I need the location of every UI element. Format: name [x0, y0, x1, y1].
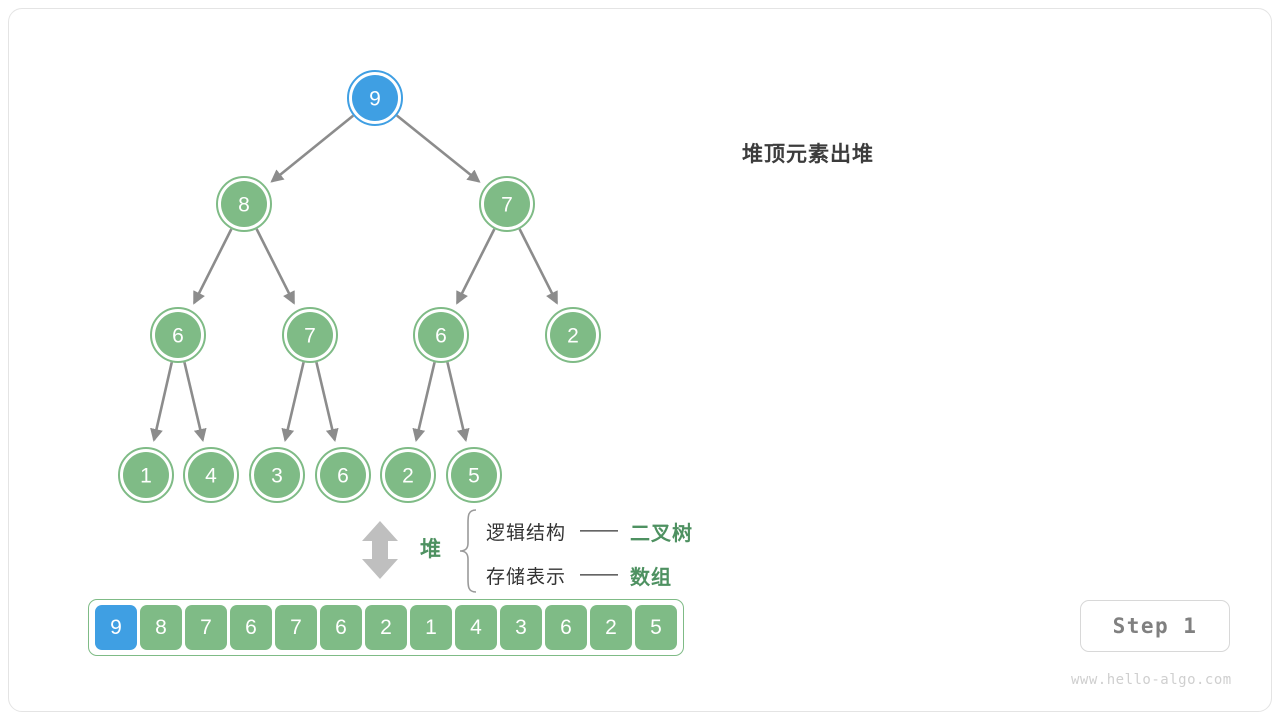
- page-title: 堆顶元素出堆: [742, 138, 874, 168]
- array-cell-value: 6: [335, 616, 347, 640]
- legend-row: 存储表示 —— 数组: [486, 553, 693, 597]
- tree-edge: [194, 229, 231, 303]
- tree-edge: [285, 362, 303, 440]
- array-cell-value: 4: [470, 616, 482, 640]
- node-label: 6: [435, 325, 447, 348]
- node-label: 2: [567, 325, 579, 348]
- array-cell-value: 5: [650, 616, 662, 640]
- legend-value: 二叉树: [630, 517, 693, 546]
- tree-node[interactable]: 7: [283, 308, 337, 362]
- legend-dash: ——: [580, 564, 618, 586]
- tree-edge: [520, 229, 557, 303]
- tree-nodes: 9876762143625: [119, 71, 600, 502]
- legend-row: 逻辑结构 —— 二叉树: [486, 509, 693, 553]
- array-cell-value: 6: [560, 616, 572, 640]
- tree-node[interactable]: 6: [316, 448, 370, 502]
- tree-node[interactable]: 2: [381, 448, 435, 502]
- tree-node[interactable]: 5: [447, 448, 501, 502]
- node-label: 6: [172, 325, 184, 348]
- node-label: 8: [238, 194, 250, 217]
- array-cell-value: 3: [515, 616, 527, 640]
- diagram-canvas: 9876762143625 堆顶元素出堆 堆 逻辑结构 —— 二叉树 存储表示 …: [0, 0, 1280, 720]
- node-label: 5: [468, 465, 480, 488]
- legend-dash: ——: [580, 520, 618, 542]
- array-cell[interactable]: 9: [95, 605, 137, 650]
- array-cell[interactable]: 5: [635, 605, 677, 650]
- tree-edge: [316, 362, 334, 440]
- tree-node[interactable]: 9: [348, 71, 402, 125]
- tree-edges: [154, 116, 557, 440]
- curly-brace-icon: [456, 507, 482, 595]
- tree-node[interactable]: 4: [184, 448, 238, 502]
- node-label: 7: [304, 325, 316, 348]
- tree-node[interactable]: 8: [217, 177, 271, 231]
- tree-edge: [397, 116, 479, 182]
- tree-node[interactable]: 2: [546, 308, 600, 362]
- array-cell-value: 2: [605, 616, 617, 640]
- array-cell-value: 7: [200, 616, 212, 640]
- node-label: 3: [271, 465, 283, 488]
- tree-node[interactable]: 6: [414, 308, 468, 362]
- tree-node[interactable]: 7: [480, 177, 534, 231]
- array-cell-value: 7: [290, 616, 302, 640]
- node-label: 1: [140, 465, 152, 488]
- array-cell[interactable]: 8: [140, 605, 182, 650]
- array-cell[interactable]: 3: [500, 605, 542, 650]
- legend-heap-label: 堆: [420, 533, 441, 563]
- array-cell[interactable]: 2: [365, 605, 407, 650]
- array-cell-value: 2: [380, 616, 392, 640]
- legend-key: 逻辑结构: [486, 518, 566, 545]
- tree-edge: [447, 362, 465, 440]
- tree-edge: [184, 362, 202, 440]
- node-label: 7: [501, 194, 513, 217]
- node-label: 9: [369, 88, 381, 111]
- legend-value: 数组: [630, 561, 672, 590]
- array-cell[interactable]: 4: [455, 605, 497, 650]
- node-label: 4: [205, 465, 217, 488]
- tree-edge: [272, 116, 353, 182]
- step-badge: Step 1: [1080, 600, 1230, 652]
- array-cell[interactable]: 6: [320, 605, 362, 650]
- legend: 堆 逻辑结构 —— 二叉树 存储表示 —— 数组: [352, 505, 752, 597]
- array-cell[interactable]: 7: [275, 605, 317, 650]
- array-cell[interactable]: 2: [590, 605, 632, 650]
- array-cell[interactable]: 6: [545, 605, 587, 650]
- array-cell[interactable]: 1: [410, 605, 452, 650]
- watermark: www.hello-algo.com: [1071, 672, 1232, 688]
- tree-edge: [154, 362, 172, 440]
- array-cell-value: 9: [110, 616, 122, 640]
- array-cell-value: 1: [425, 616, 437, 640]
- tree-node[interactable]: 6: [151, 308, 205, 362]
- array-cell[interactable]: 6: [230, 605, 272, 650]
- tree-edge: [416, 362, 434, 440]
- array-representation: 9876762143625: [88, 599, 684, 656]
- array-cell-value: 8: [155, 616, 167, 640]
- legend-key: 存储表示: [486, 562, 566, 589]
- tree-edge: [457, 229, 494, 303]
- node-label: 2: [402, 465, 414, 488]
- tree-node[interactable]: 3: [250, 448, 304, 502]
- node-label: 6: [337, 465, 349, 488]
- array-cell[interactable]: 7: [185, 605, 227, 650]
- up-down-arrow-icon: [358, 519, 402, 581]
- array-cell-value: 6: [245, 616, 257, 640]
- tree-edge: [257, 229, 294, 303]
- legend-rows: 逻辑结构 —— 二叉树 存储表示 —— 数组: [486, 509, 693, 597]
- tree-node[interactable]: 1: [119, 448, 173, 502]
